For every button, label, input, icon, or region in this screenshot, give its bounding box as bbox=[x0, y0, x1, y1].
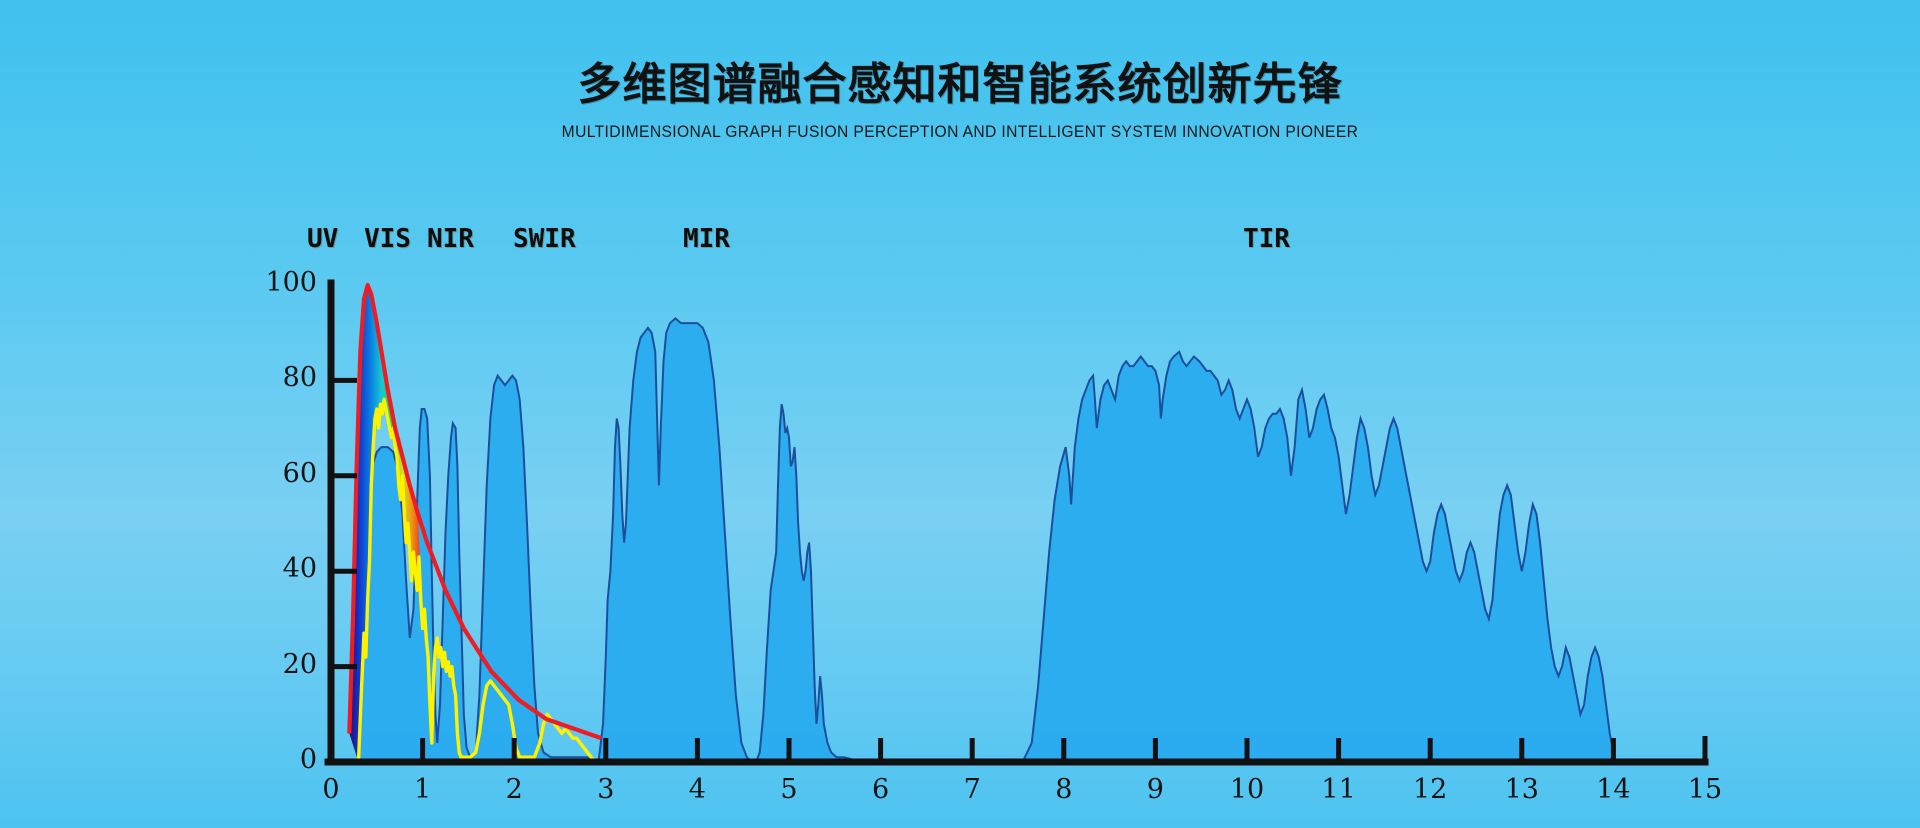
transmission-area-group bbox=[358, 318, 1615, 762]
x-axis-label: 6 bbox=[851, 774, 911, 805]
x-axis-label: 0 bbox=[301, 774, 361, 805]
x-axis-label: 10 bbox=[1217, 774, 1277, 805]
x-axis-label: 15 bbox=[1675, 774, 1735, 805]
x-axis-label: 11 bbox=[1309, 774, 1369, 805]
x-axis-label: 12 bbox=[1400, 774, 1460, 805]
spectral-transmission-chart bbox=[0, 0, 1920, 828]
y-axis-label: 40 bbox=[247, 553, 317, 584]
x-axis-label: 8 bbox=[1034, 774, 1094, 805]
transmission-area bbox=[358, 318, 1615, 762]
x-axis-label: 4 bbox=[667, 774, 727, 805]
x-axis-label: 9 bbox=[1125, 774, 1185, 805]
x-axis-label: 2 bbox=[484, 774, 544, 805]
x-axis-label: 3 bbox=[576, 774, 636, 805]
y-axis-label: 20 bbox=[247, 649, 317, 680]
poster-canvas: 多维图谱融合感知和智能系统创新先锋 MULTIDIMENSIONAL GRAPH… bbox=[0, 0, 1920, 828]
x-axis-label: 13 bbox=[1492, 774, 1552, 805]
x-axis-label: 5 bbox=[759, 774, 819, 805]
y-axis-label: 80 bbox=[247, 362, 317, 393]
y-axis-label: 0 bbox=[247, 744, 317, 775]
y-axis-label: 60 bbox=[247, 458, 317, 489]
x-axis-label: 7 bbox=[942, 774, 1002, 805]
x-axis-label: 1 bbox=[393, 774, 453, 805]
y-axis-label: 100 bbox=[247, 267, 317, 298]
x-axis-label: 14 bbox=[1583, 774, 1643, 805]
